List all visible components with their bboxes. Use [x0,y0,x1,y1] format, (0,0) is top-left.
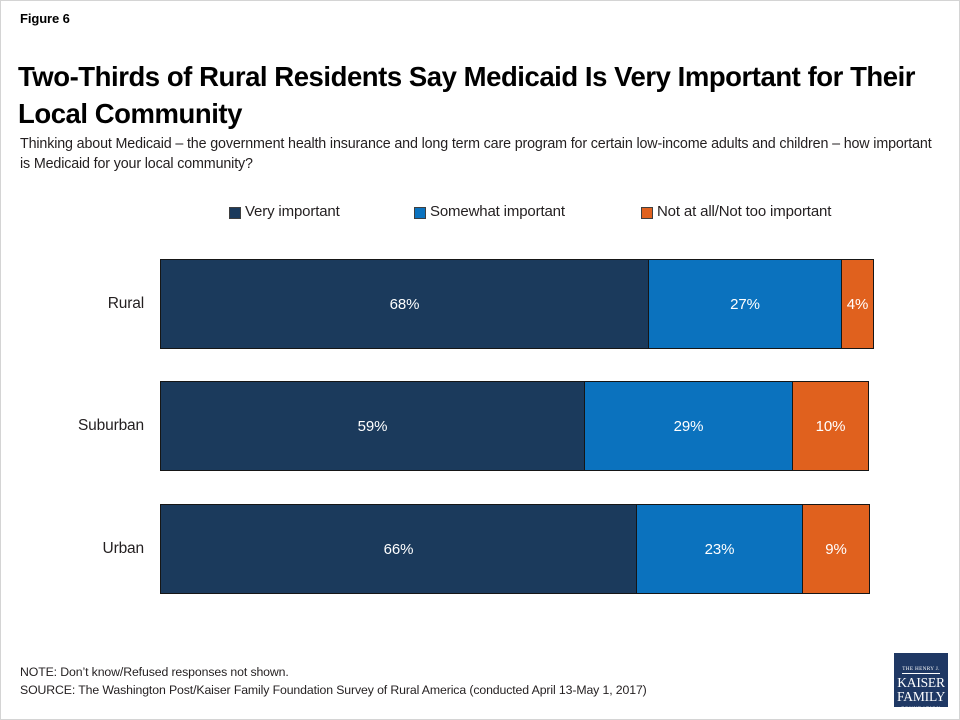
bar-segment[interactable]: 9% [802,504,870,594]
logo-line-4: FOUNDATION [897,705,945,707]
bar-value-label: 9% [825,541,846,558]
bar-value-label: 10% [816,418,846,435]
category-label-urban: Urban [103,504,160,594]
bar-value-label: 23% [705,541,735,558]
figure-page: Figure 6 Two-Thirds of Rural Residents S… [0,0,960,720]
bar-value-label: 66% [384,541,414,558]
bar-track: 68%27%4% [160,259,874,349]
bar-value-label: 4% [847,296,868,313]
bar-row: Urban66%23%9% [160,504,870,594]
bar-value-label: 29% [674,418,704,435]
bar-segment[interactable]: 29% [584,381,793,471]
note-line: NOTE: Don’t know/Refused responses not s… [20,664,840,682]
bar-segment[interactable]: 66% [160,504,637,594]
kaiser-family-foundation-logo: THE HENRY J. KAISER FAMILY FOUNDATION [894,653,948,707]
bar-value-label: 68% [390,296,420,313]
category-label-suburban: Suburban [78,381,160,471]
bar-row: Suburban59%29%10% [160,381,869,471]
bar-segment[interactable]: 68% [160,259,649,349]
bar-segment[interactable]: 4% [841,259,874,349]
logo-line-3: FAMILY [897,690,945,703]
bar-row: Rural68%27%4% [160,259,874,349]
source-line: SOURCE: The Washington Post/Kaiser Famil… [20,682,840,700]
bar-value-label: 59% [358,418,388,435]
logo-line-1: THE HENRY J. [902,666,940,674]
stacked-bar-chart: Rural68%27%4%Suburban59%29%10%Urban66%23… [1,1,960,720]
logo-line-2: KAISER [897,676,945,689]
bar-segment[interactable]: 27% [648,259,842,349]
bar-track: 59%29%10% [160,381,869,471]
bar-value-label: 27% [730,296,760,313]
footnotes: NOTE: Don’t know/Refused responses not s… [20,664,840,700]
category-label-rural: Rural [108,259,160,349]
bar-track: 66%23%9% [160,504,870,594]
bar-segment[interactable]: 10% [792,381,869,471]
bar-segment[interactable]: 23% [636,504,803,594]
bar-segment[interactable]: 59% [160,381,585,471]
